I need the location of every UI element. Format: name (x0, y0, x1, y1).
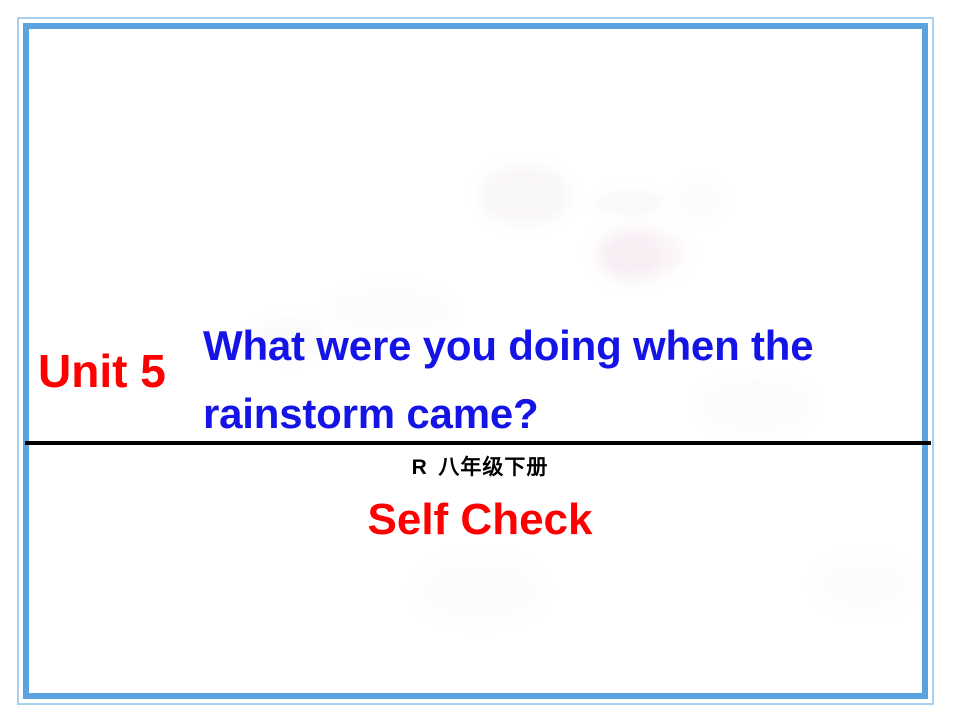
lesson-title-line-2: rainstorm came? (203, 380, 923, 448)
edition-publisher: R (412, 456, 427, 479)
horizontal-divider (25, 441, 931, 445)
lesson-title: What were you doing when the rainstorm c… (203, 312, 923, 448)
watermark-smudge (595, 190, 665, 216)
edition-grade: 八年级下册 (438, 455, 548, 479)
unit-label: Unit 5 (38, 348, 166, 394)
slide-canvas: Unit 5 What were you doing when the rain… (0, 0, 960, 720)
watermark-smudge (420, 560, 540, 620)
watermark-smudge (480, 165, 570, 225)
watermark-smudge (600, 230, 660, 285)
watermark-smudge (595, 228, 685, 278)
edition-line: R 八年级下册 (0, 455, 960, 480)
watermark-smudge (680, 180, 720, 220)
section-name: Self Check (0, 494, 960, 547)
watermark-smudge (820, 560, 910, 610)
lesson-title-line-1: What were you doing when the (203, 312, 923, 380)
